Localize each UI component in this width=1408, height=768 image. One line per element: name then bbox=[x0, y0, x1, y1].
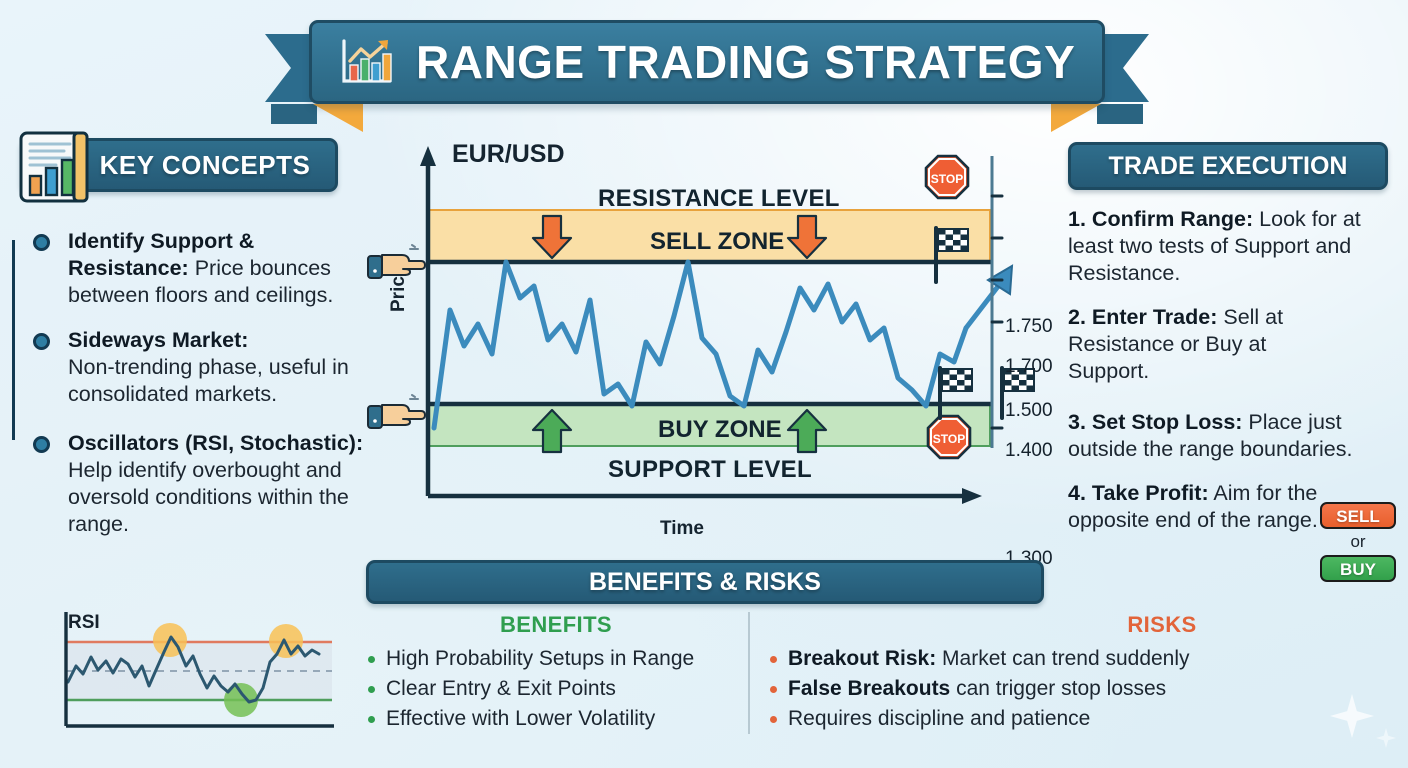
list-item: Clear Entry & Exit Points bbox=[366, 674, 746, 704]
y-tick-label: 1.400 bbox=[1005, 440, 1053, 462]
step-lead: Set Stop Loss: bbox=[1092, 410, 1243, 434]
main-price-chart: STOP STOP bbox=[360, 128, 1040, 548]
list-item-lead: Sideways Market: bbox=[68, 328, 248, 352]
stop-sign-icon: STOP bbox=[928, 416, 970, 458]
ribbon-shadow-right bbox=[1097, 104, 1143, 124]
benefits-heading: BENEFITS bbox=[366, 612, 746, 638]
list-item-body: Clear Entry & Exit Points bbox=[386, 677, 616, 700]
chart-currency-label: EUR/USD bbox=[452, 140, 565, 169]
list-item: 1. Confirm Range: Look for at least two … bbox=[1068, 206, 1398, 287]
timeline-dot-icon bbox=[33, 333, 50, 350]
svg-text:STOP: STOP bbox=[931, 172, 963, 186]
section-header-trade-execution: TRADE EXECUTION bbox=[1068, 142, 1388, 190]
infographic-canvas: RANGE TRADING STRATEGY KEY CONCEPTS Iden… bbox=[0, 0, 1408, 768]
benefits-column: BENEFITS High Probability Setups in Rang… bbox=[366, 612, 746, 734]
list-item: False Breakouts can trigger stop losses bbox=[768, 674, 1356, 704]
step-lead: Take Profit: bbox=[1092, 481, 1209, 505]
list-item-lead: Oscillators (RSI, Stochastic): bbox=[68, 431, 363, 455]
risks-column: RISKS Breakout Risk: Market can trend su… bbox=[746, 612, 1356, 734]
step-number: 3. bbox=[1068, 410, 1086, 434]
benefits-risks-title: BENEFITS & RISKS bbox=[589, 568, 821, 597]
rsi-label: RSI bbox=[68, 612, 100, 634]
buy-zone-label: BUY ZONE bbox=[658, 416, 782, 444]
page-title: RANGE TRADING STRATEGY bbox=[416, 35, 1075, 89]
list-item: Sideways Market: Non-trending phase, use… bbox=[28, 327, 376, 408]
y-tick-label: 1.500 bbox=[1005, 400, 1053, 422]
resistance-level-label: RESISTANCE LEVEL bbox=[598, 185, 840, 213]
ribbon-shadow-left bbox=[271, 104, 317, 124]
benefits-risks-body: BENEFITS High Probability Setups in Rang… bbox=[366, 612, 1356, 734]
svg-text:STOP: STOP bbox=[933, 432, 965, 446]
list-item: High Probability Setups in Range bbox=[366, 644, 746, 674]
sell-badge[interactable]: SELL bbox=[1320, 502, 1396, 529]
sparkle-icon bbox=[1376, 728, 1396, 748]
list-item-body: Effective with Lower Volatility bbox=[386, 707, 655, 730]
list-item: Oscillators (RSI, Stochastic): Help iden… bbox=[28, 430, 376, 538]
x-axis-arrow bbox=[962, 488, 982, 504]
list-item-body: High Probability Setups in Range bbox=[386, 647, 694, 670]
trade-direction-badges: SELL or BUY bbox=[1320, 502, 1396, 582]
chart-x-axis-label: Time bbox=[660, 518, 704, 540]
timeline-dot-icon bbox=[33, 234, 50, 251]
list-item-body: Market can trend suddenly bbox=[936, 647, 1189, 670]
sell-zone-label: SELL ZONE bbox=[650, 228, 784, 256]
stop-sign-icon: STOP bbox=[926, 156, 968, 198]
step-number: 1. bbox=[1068, 207, 1086, 231]
rsi-mini-chart: RSI bbox=[46, 604, 338, 746]
list-item: Requires discipline and patience bbox=[768, 704, 1356, 734]
y-tick-label: 1.750 bbox=[1005, 316, 1053, 338]
badge-separator-or: or bbox=[1320, 532, 1396, 552]
key-concepts-list: Identify Support & Resistance: Price bou… bbox=[28, 228, 376, 556]
support-level-label: SUPPORT LEVEL bbox=[608, 456, 812, 484]
step-number: 4. bbox=[1068, 481, 1086, 505]
list-item-lead: Breakout Risk: bbox=[788, 647, 936, 670]
pointing-hand-icon bbox=[366, 394, 428, 442]
list-item-body: can trigger stop losses bbox=[950, 677, 1166, 700]
list-item: 2. Enter Trade: Sell at Resistance or Bu… bbox=[1068, 304, 1316, 385]
list-item: Breakout Risk: Market can trend suddenly bbox=[768, 644, 1356, 674]
trade-execution-list: 1. Confirm Range: Look for at least two … bbox=[1068, 206, 1398, 551]
ribbon-body: RANGE TRADING STRATEGY bbox=[309, 20, 1105, 104]
key-concepts-title: KEY CONCEPTS bbox=[100, 150, 311, 181]
ribbon-fold-left bbox=[313, 104, 363, 132]
step-lead: Enter Trade: bbox=[1092, 305, 1217, 329]
trade-execution-title: TRADE EXECUTION bbox=[1109, 152, 1348, 181]
ribbon-fold-right bbox=[1051, 104, 1101, 132]
timeline-rail bbox=[12, 240, 15, 440]
title-ribbon: RANGE TRADING STRATEGY bbox=[265, 16, 1149, 120]
y-axis-arrow bbox=[420, 146, 436, 166]
timeline-dot-icon bbox=[33, 436, 50, 453]
bar-chart-growth-icon bbox=[338, 37, 394, 87]
list-item: Identify Support & Resistance: Price bou… bbox=[28, 228, 376, 309]
list-item: Effective with Lower Volatility bbox=[366, 704, 746, 734]
list-item-body: Non-trending phase, useful in consolidat… bbox=[68, 355, 349, 406]
pointing-hand-icon bbox=[366, 244, 428, 292]
list-item-body: Requires discipline and patience bbox=[788, 707, 1090, 730]
step-lead: Confirm Range: bbox=[1092, 207, 1253, 231]
list-item-body: Help identify overbought and oversold co… bbox=[68, 458, 349, 536]
risks-heading: RISKS bbox=[768, 612, 1356, 638]
list-item-lead: False Breakouts bbox=[788, 677, 950, 700]
list-item: 3. Set Stop Loss: Place just outside the… bbox=[1068, 409, 1398, 463]
y-tick-label: 1.700 bbox=[1005, 356, 1053, 378]
report-chart-icon bbox=[18, 130, 90, 204]
step-number: 2. bbox=[1068, 305, 1086, 329]
buy-badge[interactable]: BUY bbox=[1320, 555, 1396, 582]
section-header-benefits-risks: BENEFITS & RISKS bbox=[366, 560, 1044, 604]
